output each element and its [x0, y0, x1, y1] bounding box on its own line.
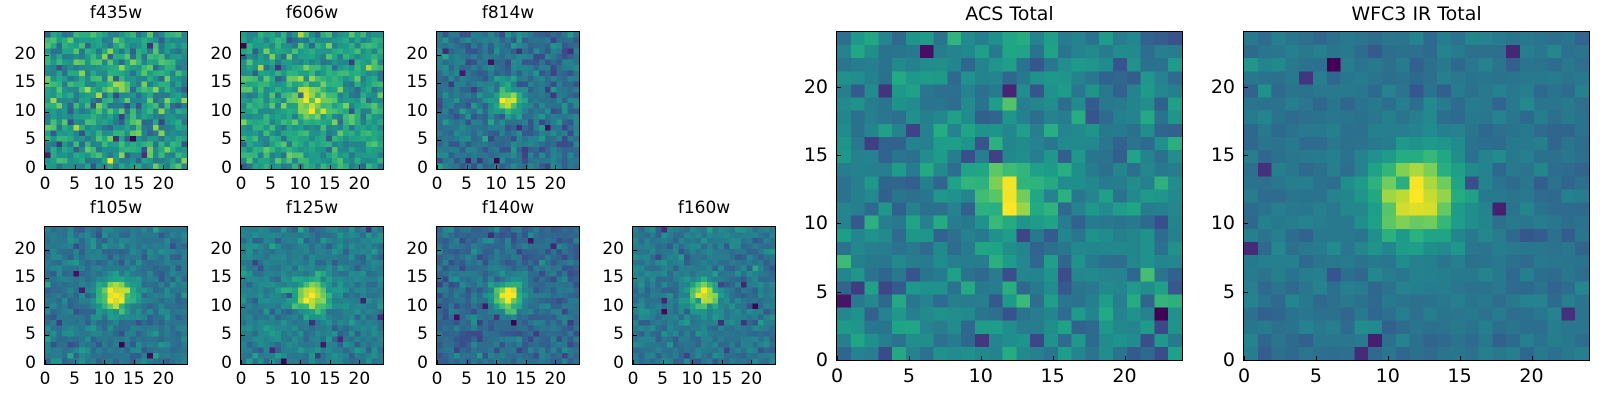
heatmap-image [44, 226, 188, 365]
panel-f160w: f160w0055101015152020 [588, 198, 776, 397]
panel-title: f160w [632, 200, 776, 217]
x-tick-mark [467, 360, 468, 364]
x-tick-mark [163, 360, 164, 364]
x-tick-mark [555, 360, 556, 364]
y-tick-label: 10 [196, 298, 232, 315]
y-tick-label: 0 [196, 160, 232, 177]
heatmap-pixels [45, 32, 187, 169]
heatmap-pixels [633, 227, 775, 364]
y-tick-label: 10 [792, 214, 828, 233]
y-tick-mark [241, 307, 245, 308]
y-tick-label: 20 [0, 241, 36, 258]
y-tick-mark [1244, 360, 1248, 361]
x-tick-label: 20 [1512, 367, 1552, 386]
y-tick-label: 10 [0, 103, 36, 120]
y-tick-label: 0 [588, 355, 624, 372]
y-tick-mark [437, 307, 441, 308]
y-tick-label: 10 [392, 298, 428, 315]
x-tick-mark [271, 165, 272, 169]
y-tick-label: 15 [792, 146, 828, 165]
x-tick-mark [722, 360, 723, 364]
y-tick-mark [45, 278, 49, 279]
x-tick-mark [330, 360, 331, 364]
x-tick-label: 15 [1440, 367, 1480, 386]
figure-canvas: f435w0055101015152020f606w00551010151520… [0, 0, 1600, 400]
y-tick-mark [437, 250, 441, 251]
y-tick-label: 5 [0, 326, 36, 343]
x-tick-mark [1460, 356, 1461, 360]
y-tick-mark [45, 83, 49, 84]
y-tick-label: 20 [1199, 78, 1235, 97]
heatmap-image [44, 31, 188, 170]
panel-title: f606w [240, 5, 384, 22]
x-tick-label: 20 [143, 176, 183, 193]
y-tick-mark [45, 250, 49, 251]
y-tick-label: 15 [392, 269, 428, 286]
heatmap-pixels [241, 227, 383, 364]
x-tick-mark [75, 360, 76, 364]
y-tick-mark [1244, 87, 1248, 88]
y-tick-mark [45, 112, 49, 113]
heatmap-image [240, 31, 384, 170]
y-tick-mark [437, 55, 441, 56]
x-tick-mark [104, 165, 105, 169]
y-tick-label: 5 [1199, 283, 1235, 302]
x-tick-mark [330, 165, 331, 169]
y-tick-label: 20 [392, 241, 428, 258]
y-tick-mark [633, 278, 637, 279]
heatmap-image [836, 31, 1183, 361]
panel-wfc3-ir-total: WFC3 IR Total0055101015152020 [1199, 3, 1590, 393]
x-tick-mark [1532, 356, 1533, 360]
heatmap-image [632, 226, 776, 365]
y-tick-label: 0 [196, 355, 232, 372]
heatmap-image [1243, 31, 1590, 361]
y-tick-mark [241, 55, 245, 56]
x-tick-mark [134, 165, 135, 169]
y-tick-label: 10 [0, 298, 36, 315]
y-tick-mark [1244, 155, 1248, 156]
y-tick-mark [45, 364, 49, 365]
y-tick-label: 20 [196, 46, 232, 63]
y-tick-mark [45, 169, 49, 170]
y-tick-label: 20 [196, 241, 232, 258]
x-tick-label: 20 [1105, 367, 1145, 386]
heatmap-image [240, 226, 384, 365]
y-tick-label: 15 [1199, 146, 1235, 165]
y-tick-mark [241, 140, 245, 141]
heatmap-pixels [241, 32, 383, 169]
heatmap-image [436, 226, 580, 365]
panel-acs-total: ACS Total0055101015152020 [792, 3, 1183, 393]
panel-title: f105w [44, 200, 188, 217]
panel-title: f814w [436, 5, 580, 22]
x-tick-mark [1053, 356, 1054, 360]
y-tick-mark [837, 155, 841, 156]
y-tick-label: 15 [196, 74, 232, 91]
y-tick-mark [45, 140, 49, 141]
x-tick-mark [1316, 356, 1317, 360]
x-tick-mark [909, 356, 910, 360]
x-tick-mark [692, 360, 693, 364]
x-tick-mark [104, 360, 105, 364]
y-tick-mark [241, 250, 245, 251]
panel-f105w: f105w0055101015152020 [0, 198, 188, 397]
y-tick-mark [837, 87, 841, 88]
y-tick-mark [633, 250, 637, 251]
y-tick-mark [45, 335, 49, 336]
x-tick-mark [359, 165, 360, 169]
heatmap-pixels [1244, 32, 1589, 360]
y-tick-label: 5 [588, 326, 624, 343]
y-tick-mark [437, 83, 441, 84]
x-tick-mark [467, 165, 468, 169]
x-tick-label: 20 [339, 371, 379, 388]
y-tick-label: 20 [588, 241, 624, 258]
y-tick-label: 15 [196, 269, 232, 286]
panel-title: f140w [436, 200, 580, 217]
x-tick-mark [555, 165, 556, 169]
panel-title: WFC3 IR Total [1243, 5, 1590, 24]
panel-f125w: f125w0055101015152020 [196, 198, 384, 397]
y-tick-mark [1244, 292, 1248, 293]
y-tick-mark [633, 364, 637, 365]
y-tick-label: 10 [1199, 214, 1235, 233]
x-tick-label: 20 [339, 176, 379, 193]
panel-f814w: f814w0055101015152020 [392, 3, 580, 202]
y-tick-mark [241, 364, 245, 365]
x-tick-mark [75, 165, 76, 169]
heatmap-pixels [437, 227, 579, 364]
y-tick-mark [241, 335, 245, 336]
y-tick-mark [437, 364, 441, 365]
y-tick-mark [437, 335, 441, 336]
panel-title: ACS Total [836, 5, 1183, 24]
x-tick-label: 5 [889, 367, 929, 386]
y-tick-label: 5 [392, 131, 428, 148]
x-tick-mark [271, 360, 272, 364]
y-tick-label: 20 [792, 78, 828, 97]
y-tick-label: 0 [392, 160, 428, 177]
y-tick-label: 5 [792, 283, 828, 302]
heatmap-pixels [837, 32, 1182, 360]
heatmap-pixels [437, 32, 579, 169]
y-tick-mark [633, 307, 637, 308]
x-tick-mark [981, 356, 982, 360]
y-tick-mark [241, 169, 245, 170]
panel-title: f435w [44, 5, 188, 22]
x-tick-mark [1125, 356, 1126, 360]
y-tick-label: 10 [588, 298, 624, 315]
panel-title: f125w [240, 200, 384, 217]
y-tick-mark [837, 223, 841, 224]
x-tick-mark [134, 360, 135, 364]
y-tick-label: 5 [392, 326, 428, 343]
y-tick-mark [837, 292, 841, 293]
y-tick-label: 15 [0, 74, 36, 91]
y-tick-label: 15 [0, 269, 36, 286]
panel-f606w: f606w0055101015152020 [196, 3, 384, 202]
y-tick-label: 0 [0, 160, 36, 177]
y-tick-label: 0 [1199, 351, 1235, 370]
x-tick-mark [496, 360, 497, 364]
x-tick-mark [751, 360, 752, 364]
x-tick-mark [526, 360, 527, 364]
x-tick-mark [526, 165, 527, 169]
y-tick-mark [241, 83, 245, 84]
y-tick-mark [241, 112, 245, 113]
x-tick-mark [359, 360, 360, 364]
y-tick-mark [437, 140, 441, 141]
x-tick-mark [496, 165, 497, 169]
x-tick-mark [163, 165, 164, 169]
x-tick-mark [300, 360, 301, 364]
y-tick-mark [45, 55, 49, 56]
y-tick-label: 5 [0, 131, 36, 148]
x-tick-mark [1388, 356, 1389, 360]
x-tick-label: 10 [1368, 367, 1408, 386]
y-tick-mark [437, 169, 441, 170]
x-tick-label: 20 [143, 371, 183, 388]
y-tick-mark [1244, 223, 1248, 224]
y-tick-label: 10 [392, 103, 428, 120]
y-tick-label: 0 [0, 355, 36, 372]
y-tick-label: 15 [588, 269, 624, 286]
x-tick-label: 15 [1033, 367, 1073, 386]
heatmap-image [436, 31, 580, 170]
x-tick-label: 20 [731, 371, 771, 388]
y-tick-label: 20 [392, 46, 428, 63]
y-tick-label: 5 [196, 326, 232, 343]
x-tick-label: 20 [535, 371, 575, 388]
y-tick-mark [633, 335, 637, 336]
y-tick-mark [437, 278, 441, 279]
y-tick-label: 5 [196, 131, 232, 148]
y-tick-label: 0 [392, 355, 428, 372]
y-tick-label: 15 [392, 74, 428, 91]
y-tick-label: 20 [0, 46, 36, 63]
y-tick-mark [241, 278, 245, 279]
y-tick-label: 10 [196, 103, 232, 120]
y-tick-mark [437, 112, 441, 113]
x-tick-mark [300, 165, 301, 169]
x-tick-mark [663, 360, 664, 364]
x-tick-label: 10 [961, 367, 1001, 386]
heatmap-pixels [45, 227, 187, 364]
panel-f435w: f435w0055101015152020 [0, 3, 188, 202]
y-tick-mark [837, 360, 841, 361]
y-tick-mark [45, 307, 49, 308]
x-tick-label: 5 [1296, 367, 1336, 386]
panel-f140w: f140w0055101015152020 [392, 198, 580, 397]
y-tick-label: 0 [792, 351, 828, 370]
x-tick-label: 20 [535, 176, 575, 193]
